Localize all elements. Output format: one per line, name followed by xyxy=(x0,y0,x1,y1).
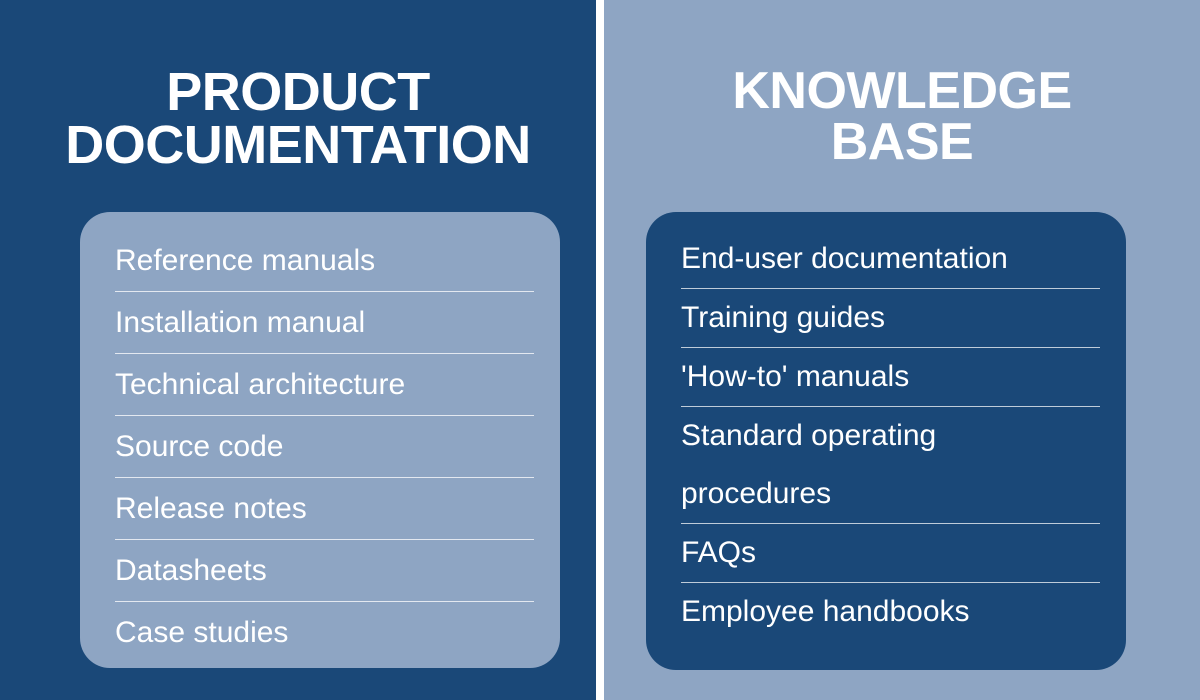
comparison-board: PRODUCT DOCUMENTATION Reference manuals … xyxy=(0,0,1200,700)
list-item-label: Standard operating procedures xyxy=(681,419,936,510)
panel-title-product-documentation: PRODUCT DOCUMENTATION xyxy=(0,66,596,172)
list-item-label: Case studies xyxy=(115,602,288,664)
card-product-documentation: Reference manuals Installation manual Te… xyxy=(80,212,560,668)
list-item[interactable]: Standard operating procedures xyxy=(681,407,1100,524)
panel-title-knowledge-base: KNOWLEDGE BASE xyxy=(604,66,1200,168)
list-item[interactable]: Reference manuals xyxy=(115,230,534,292)
list-item-label: Datasheets xyxy=(115,540,267,602)
list-item-label: FAQs xyxy=(681,536,756,569)
panel-knowledge-base: KNOWLEDGE BASE End-user documentation Tr… xyxy=(604,0,1200,700)
list-item[interactable]: Case studies xyxy=(115,602,534,664)
card-knowledge-base: End-user documentation Training guides '… xyxy=(646,212,1126,670)
list-item[interactable]: 'How-to' manuals xyxy=(681,348,1100,407)
list-item[interactable]: Installation manual xyxy=(115,292,534,354)
list-item[interactable]: Datasheets xyxy=(115,540,534,602)
list-item-label: Source code xyxy=(115,416,283,478)
list-item-label: Employee handbooks xyxy=(681,595,970,628)
list-item[interactable]: Source code xyxy=(115,416,534,478)
list-item-label: 'How-to' manuals xyxy=(681,360,909,393)
list-item[interactable]: Employee handbooks xyxy=(681,583,1100,641)
list-item[interactable]: Technical architecture xyxy=(115,354,534,416)
list-item[interactable]: FAQs xyxy=(681,524,1100,583)
list-item-label: Technical architecture xyxy=(115,354,405,416)
panel-divider xyxy=(596,0,604,700)
list-item-label: Training guides xyxy=(681,301,885,334)
panel-product-documentation: PRODUCT DOCUMENTATION Reference manuals … xyxy=(0,0,596,700)
list-item-label: Release notes xyxy=(115,478,307,540)
list-knowledge-base: End-user documentation Training guides '… xyxy=(681,230,1100,641)
list-product-documentation: Reference manuals Installation manual Te… xyxy=(115,230,534,664)
list-item[interactable]: Training guides xyxy=(681,289,1100,348)
list-item[interactable]: End-user documentation xyxy=(681,230,1100,289)
list-item-label: Installation manual xyxy=(115,292,365,354)
list-item-label: End-user documentation xyxy=(681,242,1008,275)
list-item[interactable]: Release notes xyxy=(115,478,534,540)
list-item-label: Reference manuals xyxy=(115,230,375,292)
